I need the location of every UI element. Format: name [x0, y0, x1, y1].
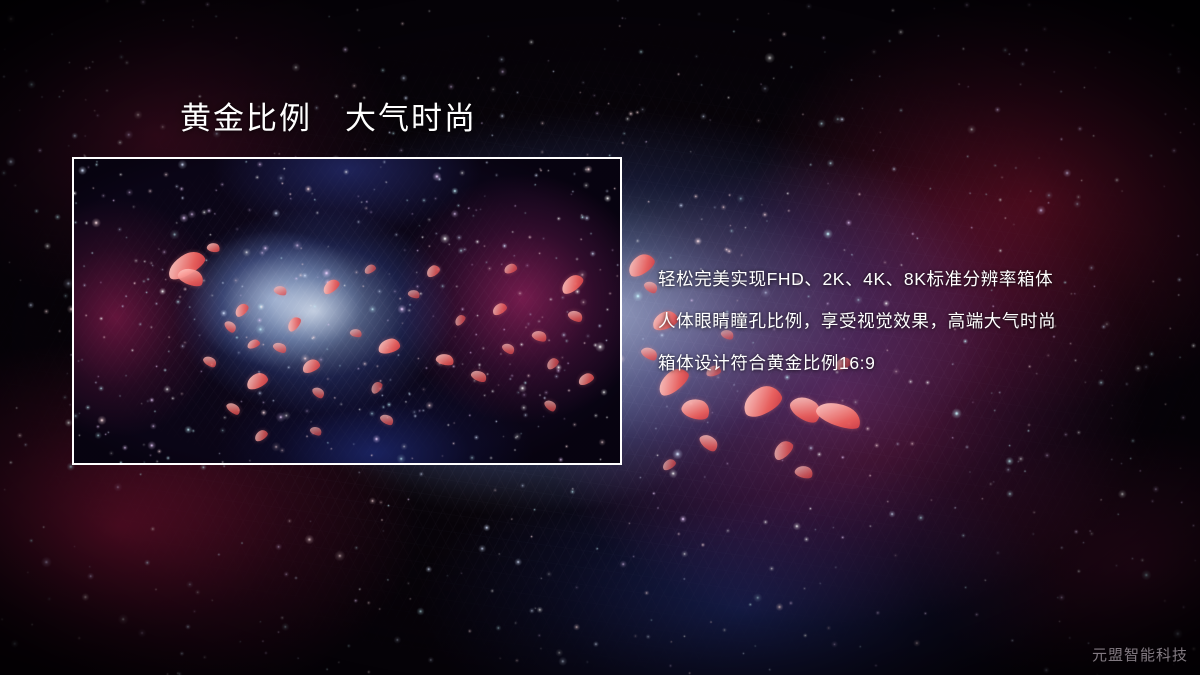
- petal: [642, 279, 659, 296]
- petal: [697, 431, 720, 454]
- petal: [738, 381, 785, 421]
- petal: [787, 391, 826, 428]
- body-line-3: 箱体设计符合黄金比例16:9: [658, 342, 1158, 384]
- petal: [770, 438, 796, 463]
- body-line-2: 人体眼睛瞳孔比例，享受视觉效果，高端大气时尚: [658, 300, 1158, 342]
- watermark: 元盟智能科技: [1092, 644, 1188, 665]
- petal: [794, 464, 815, 481]
- petal: [814, 396, 865, 434]
- petal: [624, 250, 657, 280]
- petal: [679, 395, 712, 423]
- presentation-slide: 黄金比例 大气时尚 轻松完美实现FHD、2K、4K、8K标准分辨率箱体 人体眼睛…: [0, 0, 1200, 675]
- page-title: 黄金比例 大气时尚: [180, 100, 477, 137]
- body-text-block: 轻松完美实现FHD、2K、4K、8K标准分辨率箱体 人体眼睛瞳孔比例，享受视觉效…: [658, 258, 1158, 384]
- petal: [639, 344, 659, 363]
- framed-image-wisps: [74, 159, 620, 463]
- petal: [661, 457, 678, 472]
- body-line-1: 轻松完美实现FHD、2K、4K、8K标准分辨率箱体: [658, 258, 1158, 300]
- framed-image-content: [74, 159, 620, 463]
- framed-image: [72, 157, 622, 465]
